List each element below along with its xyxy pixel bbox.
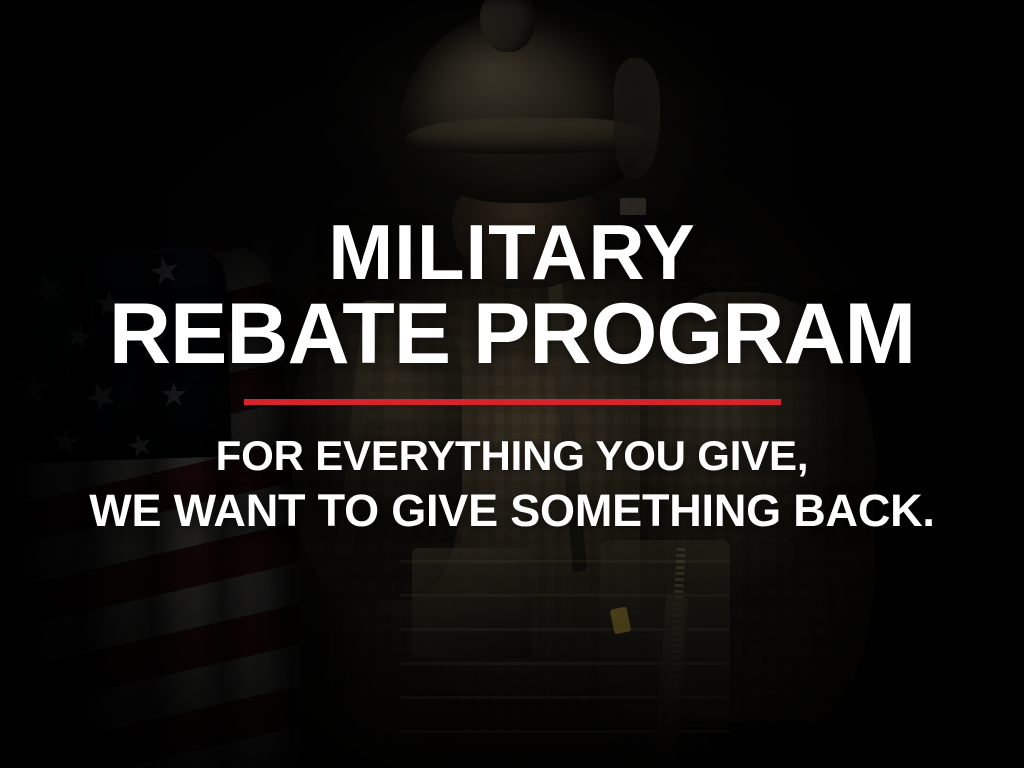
- military-rebate-poster: MILITARY REBATE PROGRAM FOR EVERYTHING Y…: [0, 0, 1024, 768]
- page-title: MILITARY REBATE PROGRAM: [109, 214, 915, 377]
- subtitle-line-1: FOR EVERYTHING YOU GIVE,: [89, 431, 934, 481]
- subtitle: FOR EVERYTHING YOU GIVE, WE WANT TO GIVE…: [89, 431, 934, 538]
- subtitle-line-2: WE WANT TO GIVE SOMETHING BACK.: [89, 484, 934, 537]
- red-divider-rule: [244, 399, 781, 405]
- headline-line-1: MILITARY: [109, 214, 915, 290]
- headline-line-2: REBATE PROGRAM: [109, 292, 915, 376]
- poster-content: MILITARY REBATE PROGRAM FOR EVERYTHING Y…: [0, 0, 1024, 768]
